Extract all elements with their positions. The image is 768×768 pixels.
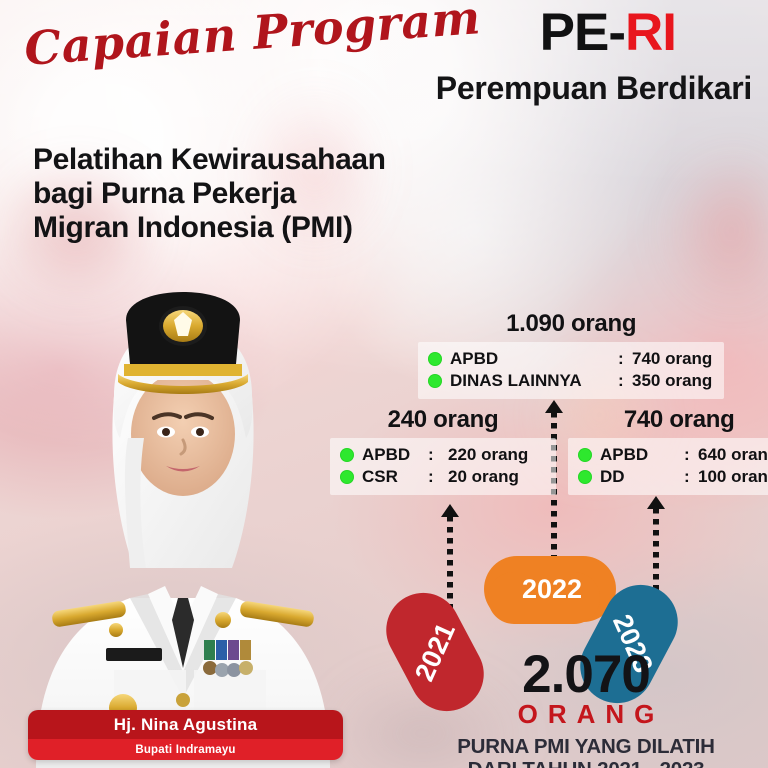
stat-row-colon: :	[684, 466, 698, 488]
bullet-dot-icon	[340, 470, 354, 484]
stat-row: DD : 100 orang	[578, 466, 768, 488]
stat-row-value: 640 orang	[698, 444, 768, 466]
stat-row: APBD : 220 orang	[340, 444, 544, 466]
person-name-banner: Hj. Nina Agustina Bupati Indramayu	[28, 710, 343, 760]
stat-row-value: 220 orang	[448, 444, 544, 466]
stat-card-2022-total: 1.090 orang	[418, 310, 724, 338]
stat-card-2021: 240 orang APBD : 220 orang CSR : 20 oran…	[330, 406, 556, 495]
brand-text-pe: PE-	[540, 3, 625, 62]
person-name: Hj. Nina Agustina	[28, 710, 343, 739]
stat-row-value: 740 orang	[632, 348, 712, 370]
header-script-title: Capaian Program	[23, 0, 483, 76]
stat-row: APBD : 640 orang	[578, 444, 768, 466]
program-title-line-1: Pelatihan Kewirausahaan	[33, 143, 386, 177]
summary-caption: PURNA PMI YANG DILATIH DARI TAHUN 2021 -…	[404, 736, 768, 768]
stat-row-label: CSR	[362, 466, 428, 488]
stat-card-2021-panel: APBD : 220 orang CSR : 20 orang	[330, 438, 556, 495]
stat-row-colon: :	[428, 444, 448, 466]
stat-row: APBD : 740 orang	[428, 348, 712, 370]
summary-total-unit: ORANG	[414, 699, 768, 730]
bullet-dot-icon	[578, 470, 592, 484]
stat-row-value: 100 orang	[698, 466, 768, 488]
stat-row-label: APBD	[450, 348, 618, 370]
stat-row: DINAS LAINNYA : 350 orang	[428, 370, 712, 392]
stat-row-colon: :	[684, 444, 698, 466]
stat-card-2023-total: 740 orang	[568, 406, 768, 434]
person-title: Bupati Indramayu	[28, 739, 343, 760]
stat-card-2021-total: 240 orang	[330, 406, 556, 434]
stat-card-2023-panel: APBD : 640 orang DD : 100 orang	[568, 438, 768, 495]
official-portrait-photo	[18, 268, 348, 768]
stat-row-label: APBD	[362, 444, 428, 466]
stat-row-label: DINAS LAINNYA	[450, 370, 618, 392]
stat-card-2022-panel: APBD : 740 orang DINAS LAINNYA : 350 ora…	[418, 342, 724, 399]
program-title-line-2: bagi Purna Pekerja	[33, 177, 386, 211]
stat-row-value: 20 orang	[448, 466, 544, 488]
bullet-dot-icon	[578, 448, 592, 462]
header-brand-subtitle: Perempuan Berdikari	[436, 70, 752, 107]
stat-row-label: APBD	[600, 444, 684, 466]
bullet-dot-icon	[340, 448, 354, 462]
stat-row: CSR : 20 orang	[340, 466, 544, 488]
stat-row-label: DD	[600, 466, 684, 488]
summary-total-block: 2.070 ORANG PURNA PMI YANG DILATIH DARI …	[404, 650, 768, 768]
year-label-2022: 2022	[522, 574, 582, 604]
stat-row-colon: :	[428, 466, 448, 488]
stat-row-value: 350 orang	[632, 370, 712, 392]
summary-total-number: 2.070	[404, 650, 768, 701]
infographic-poster: Capaian Program PE-RI Perempuan Berdikar…	[0, 0, 768, 768]
summary-caption-line-2: DARI TAHUN 2021 - 2023	[404, 759, 768, 768]
program-title-line-3: Migran Indonesia (PMI)	[33, 211, 386, 245]
header-brand-logo: PE-RI	[540, 6, 676, 59]
brand-text-ri: RI	[625, 3, 676, 62]
bullet-dot-icon	[428, 374, 442, 388]
program-title: Pelatihan Kewirausahaan bagi Purna Peker…	[33, 143, 386, 246]
stat-row-colon: :	[618, 348, 632, 370]
year-blob-2022: 2022	[484, 556, 616, 624]
poster-header: Capaian Program PE-RI Perempuan Berdikar…	[0, 0, 768, 120]
summary-caption-line-1: PURNA PMI YANG DILATIH	[404, 736, 768, 759]
bullet-dot-icon	[428, 352, 442, 366]
stat-card-2023: 740 orang APBD : 640 orang DD : 100 oran…	[568, 406, 768, 495]
stat-row-colon: :	[618, 370, 632, 392]
stat-card-2022: 1.090 orang APBD : 740 orang DINAS LAINN…	[418, 310, 724, 399]
